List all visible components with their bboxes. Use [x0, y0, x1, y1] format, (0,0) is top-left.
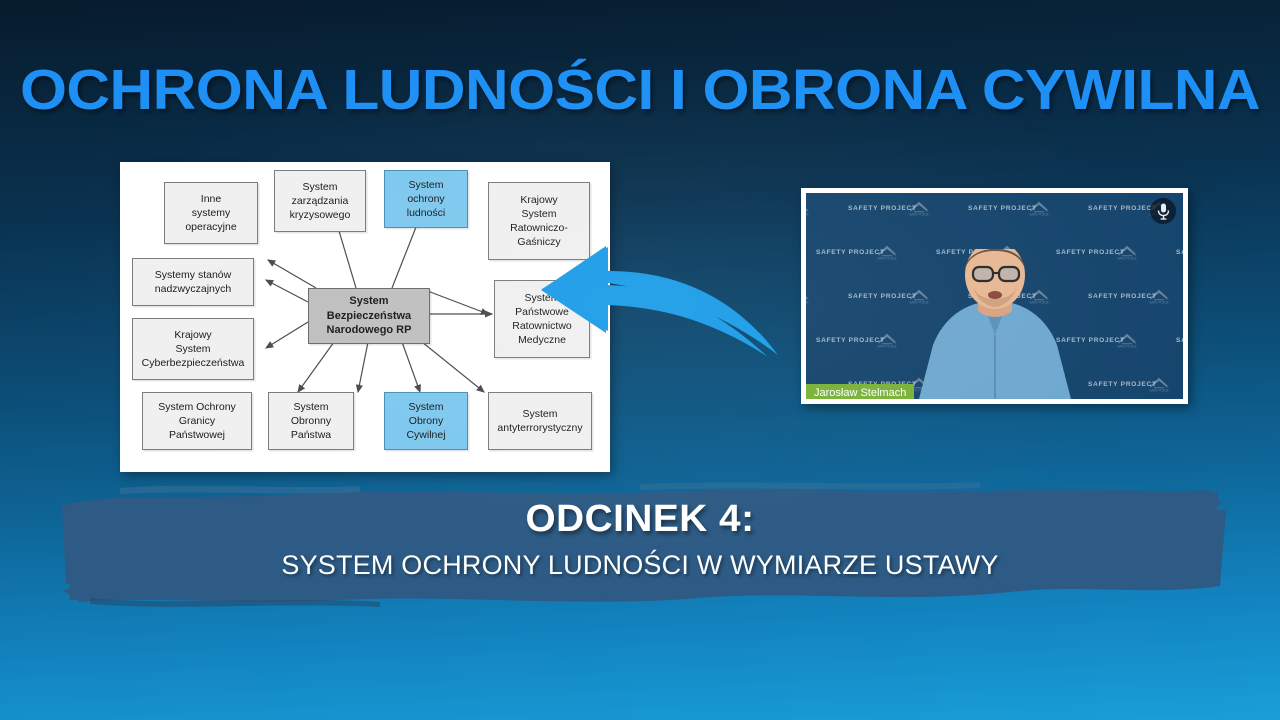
backdrop-watermark-text: SAFETY PROJECT	[1176, 249, 1188, 256]
participant-video-image	[875, 249, 1115, 399]
diagram-box-systemy-stanow-nadzwyczajnych[interactable]: Systemy stanównadzwyczajnych	[132, 258, 254, 306]
safe-place-logo-icon: SAFE PLACE	[1148, 375, 1170, 392]
backdrop-watermark-text: SAFETY PROJECT	[968, 205, 1037, 212]
diagram-box-system-antyterrorystyczny[interactable]: Systemantyterrorystyczny	[488, 392, 592, 450]
diagram-box-krajowy-system-cyberbezpieczenstwa[interactable]: KrajowySystemCyberbezpieczeństwa	[132, 318, 254, 380]
backdrop-watermark-text: SAFETY PROJECT	[1176, 337, 1188, 344]
backdrop-watermark-text: SAFETY PROJECT	[848, 205, 917, 212]
svg-text:SAFE PLACE: SAFE PLACE	[801, 300, 809, 304]
diagram-box-system-ochrony-ludnosci[interactable]: Systemochronyludności	[384, 170, 468, 228]
safe-place-logo-icon: SAFE PLACE	[1116, 331, 1138, 348]
svg-text:SAFE PLACE: SAFE PLACE	[909, 212, 929, 216]
curved-arrow-pointing-left-icon	[540, 245, 790, 365]
microphone-icon[interactable]	[1150, 198, 1176, 224]
safe-place-logo-icon: SAFE PLACE	[1148, 287, 1170, 304]
safe-place-logo-icon: SAFE PLACE	[1028, 199, 1050, 216]
diagram-box-system-zarzadzania-kryzysowego[interactable]: Systemzarządzaniakryzysowego	[274, 170, 366, 232]
svg-text:SAFE PLACE: SAFE PLACE	[801, 212, 809, 216]
diagram-box-system-obrony-cywilnej[interactable]: SystemObronyCywilnej	[384, 392, 468, 450]
episode-subtitle: SYSTEM OCHRONY LUDNOŚCI W WYMIARZE USTAW…	[0, 550, 1280, 581]
safe-place-logo-icon: SAFE PLACE	[908, 199, 930, 216]
safe-place-logo-icon: SAFE PLACE	[801, 287, 810, 304]
svg-text:SAFE PLACE: SAFE PLACE	[1029, 212, 1049, 216]
presentation-slide: OCHRONA LUDNOŚCI I OBRONA CYWILNA	[0, 0, 1280, 720]
svg-text:SAFE PLACE: SAFE PLACE	[1149, 388, 1169, 392]
episode-label: ODCINEK 4:	[0, 498, 1280, 541]
banner-text-block: ODCINEK 4: SYSTEM OCHRONY LUDNOŚCI W WYM…	[0, 498, 1280, 581]
diagram-box-inne-systemy-operacyjne[interactable]: Innesystemyoperacyjne	[164, 182, 258, 244]
diagram-box-system-obronny-panstwa[interactable]: SystemObronnyPaństwa	[268, 392, 354, 450]
safe-place-logo-icon: SAFE PLACE	[801, 199, 810, 216]
svg-text:SAFE PLACE: SAFE PLACE	[1117, 344, 1137, 348]
diagram-panel: Innesystemyoperacyjne Systemzarządzaniak…	[120, 162, 610, 472]
diagram-box-center-system-bezpieczenstwa-narodowego[interactable]: SystemBezpieczeństwaNarodowego RP	[308, 288, 430, 344]
svg-text:SAFE PLACE: SAFE PLACE	[1149, 300, 1169, 304]
svg-text:SAFE PLACE: SAFE PLACE	[1117, 256, 1137, 260]
page-title: OCHRONA LUDNOŚCI I OBRONA CYWILNA	[0, 57, 1280, 123]
video-participant-panel[interactable]: SAFE PLACESAFETY PROJECTSAFE PLACESAFETY…	[801, 188, 1188, 404]
backdrop-watermark-text: SAFETY PROJECT	[1088, 205, 1157, 212]
diagram-box-system-ochrony-granicy-panstwowej[interactable]: System OchronyGranicyPaństwowej	[142, 392, 252, 450]
safe-place-logo-icon: SAFE PLACE	[1116, 243, 1138, 260]
participant-name-tag: Jarosław Stelmach	[806, 384, 914, 399]
